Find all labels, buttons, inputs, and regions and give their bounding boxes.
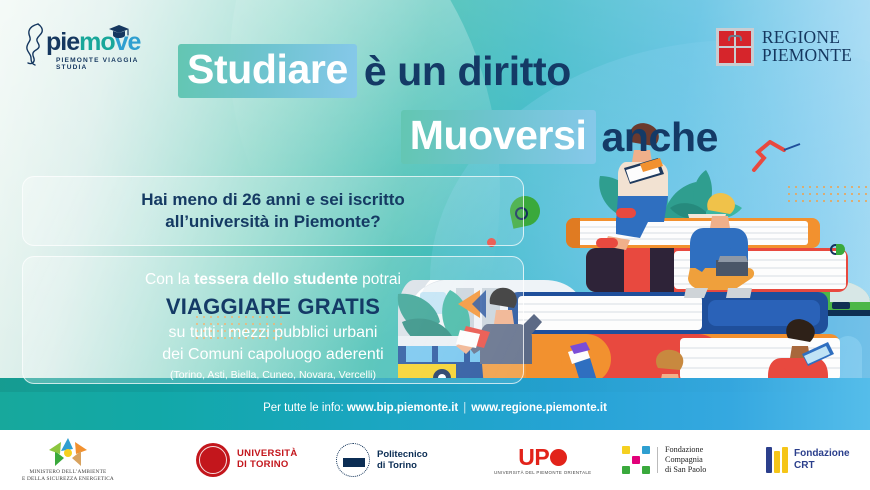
upo-subtitle: UNIVERSITÀ DEL PIEMONTE ORIENTALE: [494, 470, 591, 475]
unito-line-2: DI TORINO: [237, 460, 298, 471]
crt-bars-icon: [766, 447, 788, 473]
ministero-text: MINISTERO DELL’AMBIENTE E DELLA SICUREZZ…: [22, 469, 114, 483]
headline-highlight-studiare: Studiare: [178, 44, 357, 98]
upo-acronym-row: UP: [518, 446, 567, 469]
compagnia-line-2: Compagnia: [665, 455, 706, 465]
compagnia-text: Fondazione Compagnia di San Paolo: [665, 445, 706, 475]
info-line: Per tutte le info: www.bip.piemonte.it|w…: [0, 402, 870, 414]
unito-seal-icon: [196, 443, 230, 477]
promotional-poster: piemove PIEMONTE VIAGGIA STUDIA REGIONE …: [0, 0, 870, 490]
benefit-intro-before: Con la: [145, 271, 194, 288]
logo-compagnia-san-paolo[interactable]: Fondazione Compagnia di San Paolo: [622, 430, 706, 490]
logo-universita-torino[interactable]: UNIVERSITÀ DI TORINO: [196, 430, 298, 490]
headline-line-2: Muoversianche: [178, 110, 718, 164]
info-url-regione[interactable]: www.regione.piemonte.it: [471, 402, 607, 414]
headline: Studiareè un diritto Muoversianche: [178, 44, 718, 164]
compagnia-divider: [657, 447, 658, 473]
ministero-line-1: MINISTERO DELL’AMBIENTE: [22, 469, 114, 476]
polito-line-1: Politecnico: [377, 449, 428, 460]
unito-text: UNIVERSITÀ DI TORINO: [237, 449, 298, 470]
benefit-box: Con la tessera dello studente potrai VIA…: [22, 256, 524, 384]
ministero-line-2: E DELLA SICUREZZA ENERGETICA: [22, 476, 114, 483]
info-separator: |: [458, 402, 471, 414]
question-text: Hai meno di 26 anni e sei iscritto all’u…: [141, 189, 405, 233]
benefit-cities: (Torino, Asti, Biella, Cuneo, Novara, Ve…: [23, 369, 523, 381]
logo-tagline: PIEMONTE VIAGGIA STUDIA: [56, 57, 164, 71]
ring-green-decoration: [830, 244, 841, 255]
benefit-highlight: VIAGGIARE GRATIS: [23, 294, 523, 320]
compagnia-line-1: Fondazione: [665, 445, 706, 455]
logo-politecnico-torino[interactable]: Politecnico di Torino: [336, 430, 428, 490]
regione-line-2: PIEMONTE: [762, 47, 852, 65]
headline-line-1: Studiareè un diritto: [178, 44, 718, 98]
polito-line-2: di Torino: [377, 460, 428, 471]
book-blue: [508, 292, 828, 334]
benefit-intro-bold: tessera dello studente: [194, 271, 358, 288]
unito-di: DI: [237, 459, 250, 470]
logo-upo[interactable]: UP UNIVERSITÀ DEL PIEMONTE ORIENTALE: [494, 430, 591, 490]
benefit-intro-after: potrai: [358, 271, 401, 288]
upo-acronym: UP: [518, 446, 549, 469]
logo-text-pie: pie: [46, 28, 79, 56]
question-line-2: all’università in Piemonte?: [141, 211, 405, 233]
headline-rest-2: anche: [596, 114, 719, 160]
headline-rest-1: è un diritto: [357, 48, 571, 94]
crt-text: Fondazione CRT: [794, 448, 850, 472]
red-zigzag-decoration: [750, 140, 810, 180]
logo-ministero-ambiente[interactable]: MINISTERO DELL’AMBIENTE E DELLA SICUREZZ…: [22, 430, 114, 490]
benefit-detail-2: dei Comuni capoluogo aderenti: [23, 344, 523, 365]
compagnia-line-3: di San Paolo: [665, 465, 706, 475]
partner-logos: MINISTERO DELL’AMBIENTE E DELLA SICUREZZ…: [0, 430, 870, 490]
compagnia-dots-icon: [622, 446, 650, 474]
unito-torino: TORINO: [250, 459, 289, 470]
piemove-logo[interactable]: piemove PIEMONTE VIAGGIA STUDIA: [24, 22, 164, 70]
crt-line-1: Fondazione: [794, 448, 850, 460]
ministero-star-icon: [47, 437, 89, 467]
eligibility-question-box: Hai meno di 26 anni e sei iscritto all’u…: [22, 176, 524, 246]
regione-piemonte-logo[interactable]: REGIONE PIEMONTE: [716, 28, 852, 66]
question-line-1: Hai meno di 26 anni e sei iscritto: [141, 189, 405, 211]
regione-emblem-icon: [716, 28, 754, 66]
benefit-detail-1: su tutti i mezzi pubblici urbani: [23, 322, 523, 343]
info-url-bip[interactable]: www.bip.piemonte.it: [347, 402, 458, 414]
polito-text: Politecnico di Torino: [377, 449, 428, 472]
polito-seal-icon: [336, 443, 370, 477]
benefit-intro: Con la tessera dello studente potrai: [23, 269, 523, 291]
graduation-cap-icon: [108, 24, 130, 40]
regione-wordmark: REGIONE PIEMONTE: [762, 29, 852, 65]
headline-highlight-muoversi: Muoversi: [401, 110, 596, 164]
info-prefix: Per tutte le info:: [263, 402, 344, 414]
logo-fondazione-crt[interactable]: Fondazione CRT: [766, 430, 850, 490]
crt-line-2: CRT: [794, 460, 850, 472]
upo-tree-circle-icon: [550, 449, 567, 466]
dot-grid-right: [788, 186, 870, 207]
